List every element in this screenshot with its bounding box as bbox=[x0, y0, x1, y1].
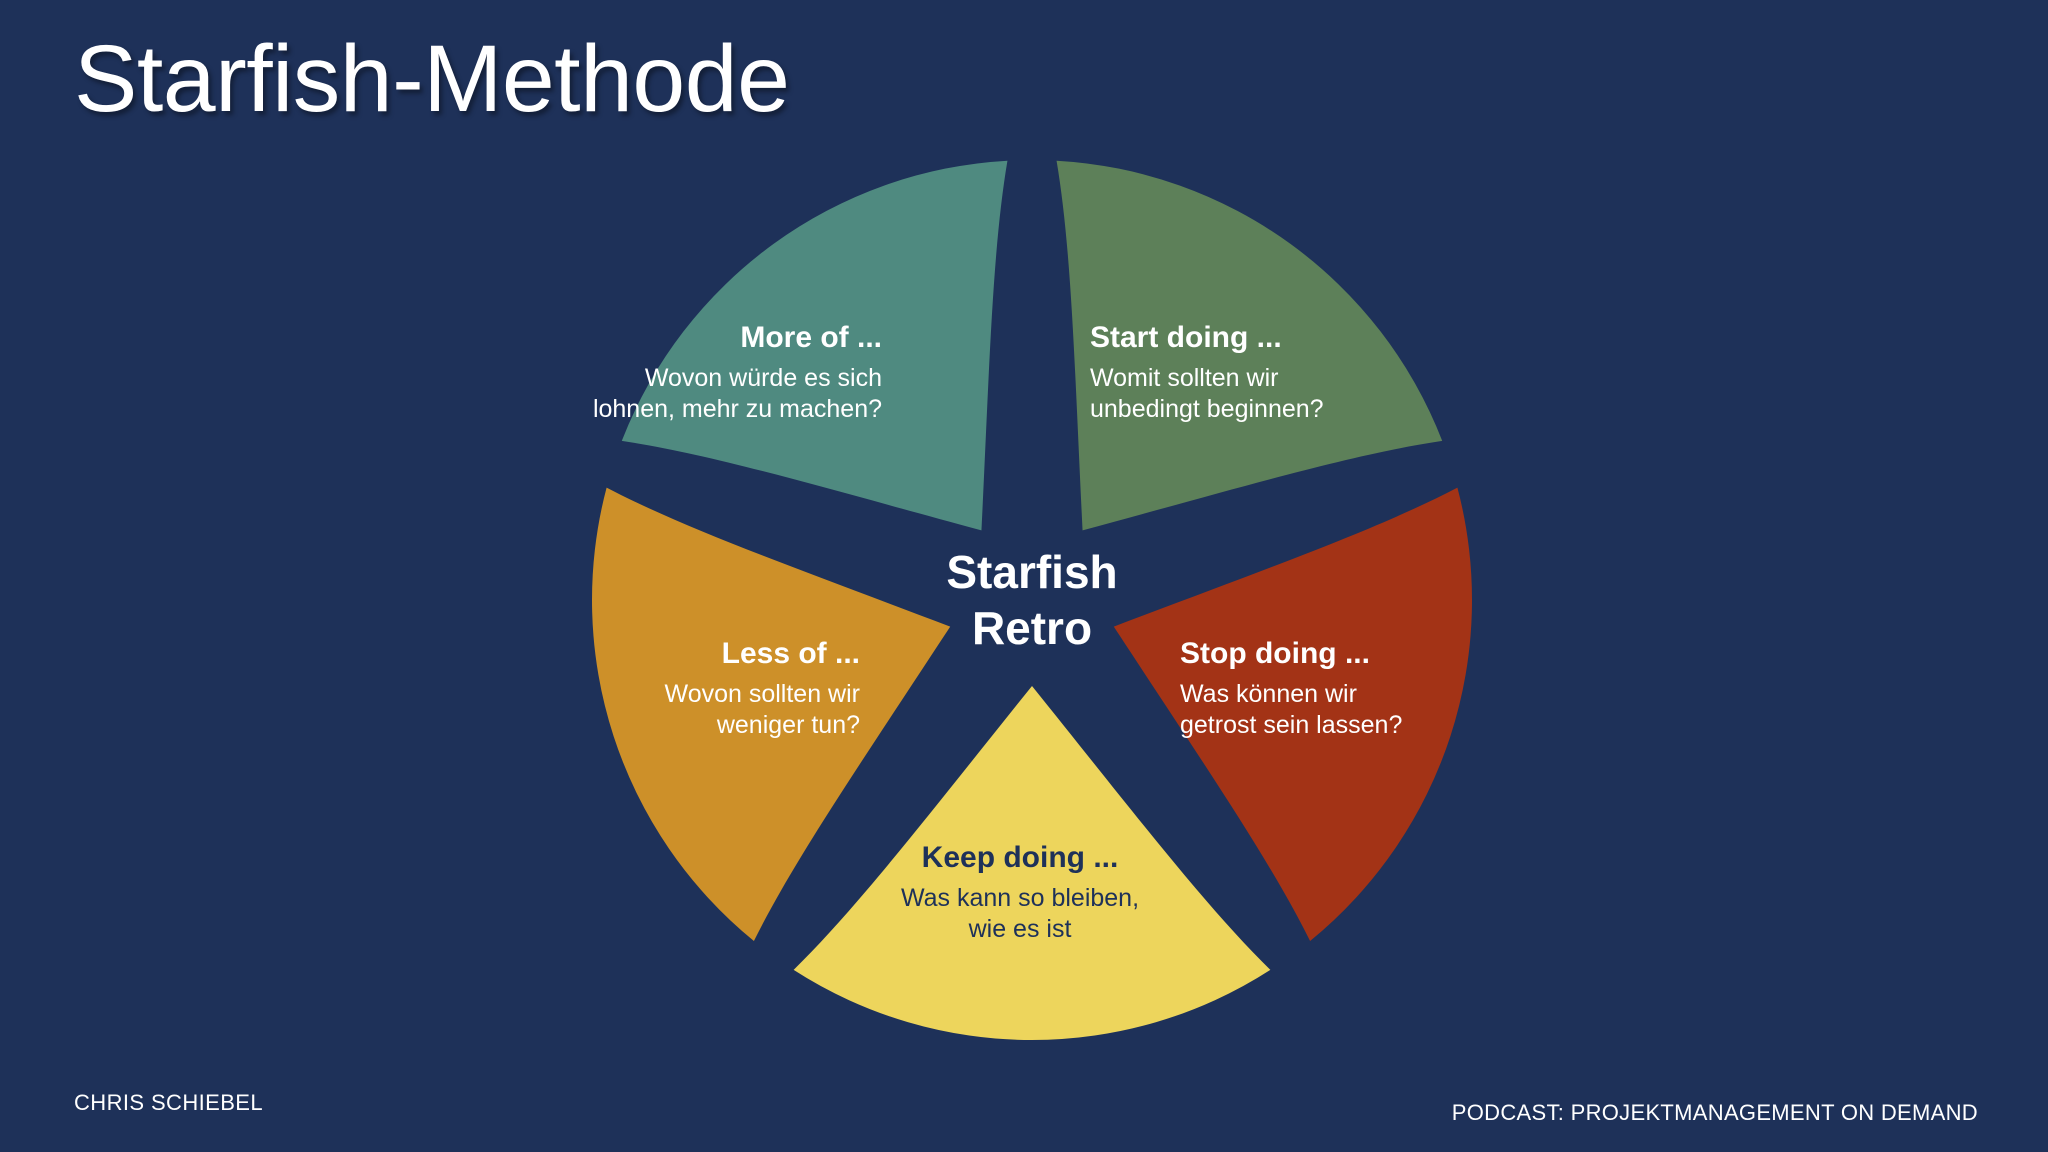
petal-label-more-of: More of ... Wovon würde es sich lohnen, … bbox=[592, 320, 882, 426]
slide-canvas: Starfish-Methode Starfish Retro More of … bbox=[0, 0, 2048, 1152]
petal-desc-keep-doing-line1: Was kann so bleiben, bbox=[855, 883, 1185, 915]
petal-heading-stop-doing: Stop doing ... bbox=[1180, 636, 1480, 673]
petal-desc-start-doing-line1: Womit sollten wir bbox=[1090, 363, 1390, 395]
petal-desc-more-of-line1: Wovon würde es sich bbox=[592, 363, 882, 395]
petal-label-stop-doing: Stop doing ... Was können wir getrost se… bbox=[1180, 636, 1480, 742]
footer-podcast: PODCAST: PROJEKTMANAGEMENT ON DEMAND bbox=[1452, 1100, 1978, 1126]
petal-heading-start-doing: Start doing ... bbox=[1090, 320, 1390, 357]
petal-desc-start-doing-line2: unbedingt beginnen? bbox=[1090, 394, 1390, 426]
petal-desc-stop-doing-line1: Was können wir bbox=[1180, 679, 1480, 711]
petal-label-keep-doing: Keep doing ... Was kann so bleiben, wie … bbox=[855, 840, 1185, 946]
petal-desc-less-of-line1: Wovon sollten wir bbox=[560, 679, 860, 711]
page-title: Starfish-Methode bbox=[74, 28, 789, 131]
petal-desc-less-of-line2: weniger tun? bbox=[560, 710, 860, 742]
footer-author: CHRIS SCHIEBEL bbox=[74, 1090, 263, 1116]
petal-label-less-of: Less of ... Wovon sollten wir weniger tu… bbox=[560, 636, 860, 742]
petal-heading-keep-doing: Keep doing ... bbox=[855, 840, 1185, 877]
petal-label-start-doing: Start doing ... Womit sollten wir unbedi… bbox=[1090, 320, 1390, 426]
petal-desc-stop-doing-line2: getrost sein lassen? bbox=[1180, 710, 1480, 742]
petal-desc-more-of-line2: lohnen, mehr zu machen? bbox=[592, 394, 882, 426]
petal-desc-keep-doing-line2: wie es ist bbox=[855, 914, 1185, 946]
petal-heading-less-of: Less of ... bbox=[560, 636, 860, 673]
petal-heading-more-of: More of ... bbox=[592, 320, 882, 357]
